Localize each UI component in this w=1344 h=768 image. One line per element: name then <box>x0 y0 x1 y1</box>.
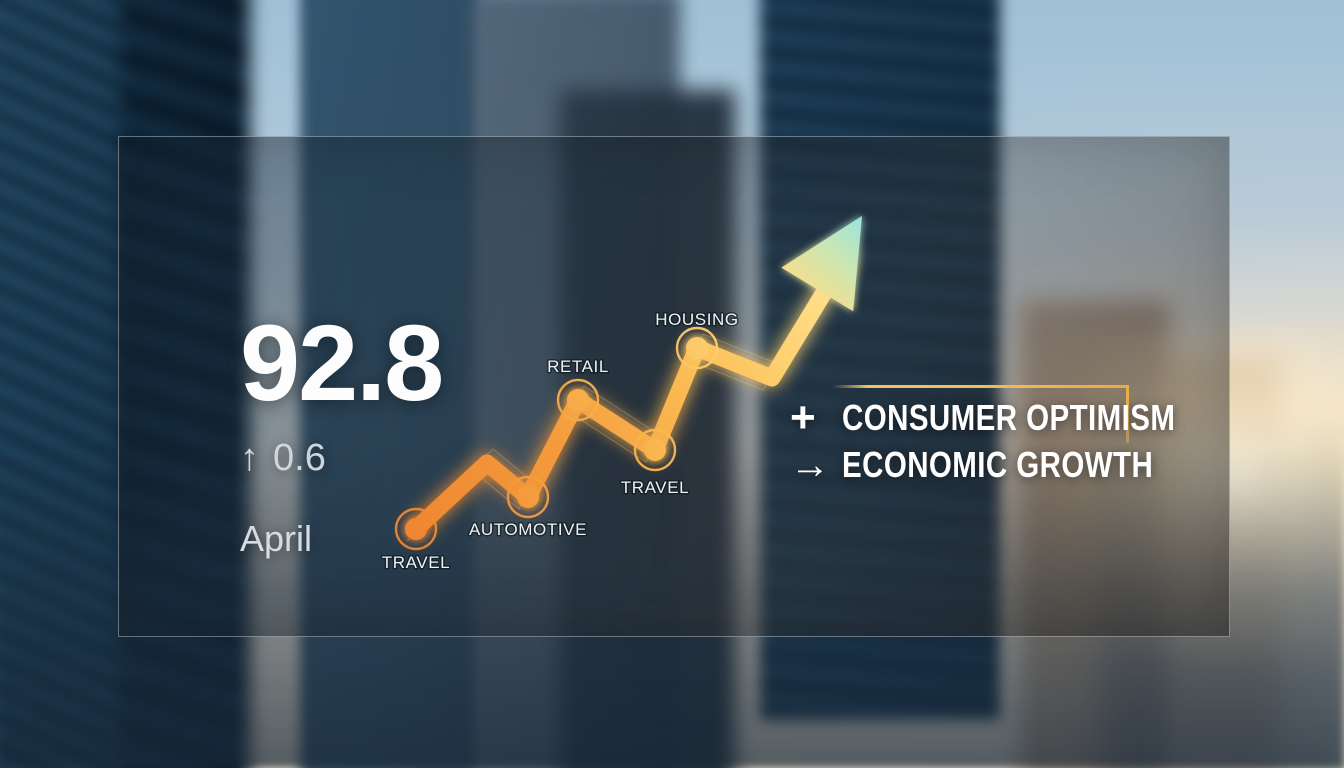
callout-line-1: CONSUMER OPTIMISM <box>842 397 1175 439</box>
delta-row: ↑0.6 <box>240 437 540 480</box>
plus-icon: + <box>790 396 842 440</box>
callout-line-2: ECONOMIC GROWTH <box>842 444 1153 486</box>
period-label: April <box>240 518 540 560</box>
callout-row-1: + CONSUMER OPTIMISM <box>790 396 1190 440</box>
kpi-block: 92.8 ↑0.6 April <box>240 312 540 560</box>
callout-block: + CONSUMER OPTIMISM → ECONOMIC GROWTH <box>790 396 1190 490</box>
delta-value: 0.6 <box>273 437 326 479</box>
up-arrow-icon: ↑ <box>240 437 259 479</box>
screenshot-root: 92.8 ↑0.6 April <box>0 0 1344 768</box>
index-value: 92.8 <box>240 312 540 415</box>
callout-bracket-top <box>832 385 1129 388</box>
right-arrow-icon: → <box>790 445 842 485</box>
callout-row-2: → ECONOMIC GROWTH <box>790 444 1190 486</box>
